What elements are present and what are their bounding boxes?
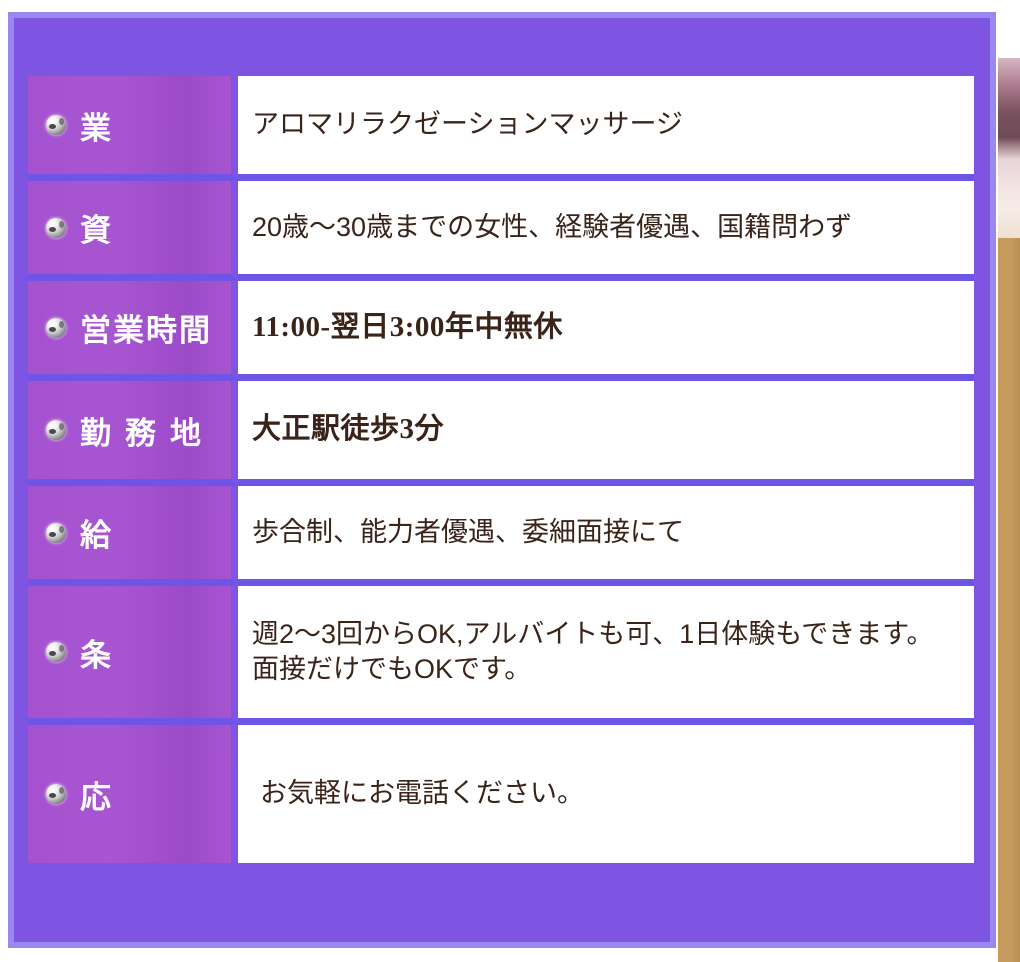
row-value-oubo: お気軽にお電話ください。 bbox=[238, 725, 974, 870]
table-row: 業 種 アロマリラクゼーションマッサージ bbox=[28, 76, 974, 181]
row-value-kinmuchi: 大正駅徒歩3分 bbox=[238, 381, 974, 486]
job-info-table-wrapper: 業 種 アロマリラクゼーションマッサージ 資 格 bbox=[28, 76, 974, 870]
outer-frame: 業 種 アロマリラクゼーションマッサージ 資 格 bbox=[8, 12, 996, 948]
gem-sphere-icon bbox=[46, 318, 66, 338]
row-label-kinmuchi: 勤務地 bbox=[28, 381, 238, 486]
gem-sphere-icon bbox=[46, 218, 66, 238]
row-value-kyuuyo: 歩合制、能力者優遇、委細面接にて bbox=[238, 486, 974, 586]
row-label-jouken: 条 件 bbox=[28, 586, 238, 725]
row-label-gyoushu: 業 種 bbox=[28, 76, 238, 181]
value-text: 週2〜3回からOK,アルバイトも可、1日体験もできます。 面接だけでもOKです。 bbox=[252, 617, 974, 687]
value-text: アロマリラクゼーションマッサージ bbox=[252, 107, 974, 142]
row-value-gyoushu: アロマリラクゼーションマッサージ bbox=[238, 76, 974, 181]
page-root: 業 種 アロマリラクゼーションマッサージ 資 格 bbox=[0, 0, 1020, 962]
side-photo-fragment bbox=[998, 58, 1020, 238]
gem-sphere-icon bbox=[46, 420, 66, 440]
row-label-kyuuyo: 給 与 bbox=[28, 486, 238, 586]
table-row: 勤務地 大正駅徒歩3分 bbox=[28, 381, 974, 486]
row-value-jouken: 週2〜3回からOK,アルバイトも可、1日体験もできます。 面接だけでもOKです。 bbox=[238, 586, 974, 725]
table-row: 給 与 歩合制、能力者優遇、委細面接にて bbox=[28, 486, 974, 586]
value-text: 大正駅徒歩3分 bbox=[252, 411, 974, 449]
gem-sphere-icon bbox=[46, 642, 66, 662]
side-gold-bar bbox=[998, 238, 1020, 962]
page-right-edge-decoration bbox=[998, 0, 1020, 962]
gem-sphere-icon bbox=[46, 523, 66, 543]
table-row: 営業時間 11:00-翌日3:00年中無休 bbox=[28, 281, 974, 381]
value-text: お気軽にお電話ください。 bbox=[252, 776, 974, 811]
table-row: 応 募 お気軽にお電話ください。 bbox=[28, 725, 974, 870]
table-row: 条 件 週2〜3回からOK,アルバイトも可、1日体験もできます。 面接だけでもO… bbox=[28, 586, 974, 725]
gem-sphere-icon bbox=[46, 115, 66, 135]
row-value-eigyojikan: 11:00-翌日3:00年中無休 bbox=[238, 281, 974, 381]
value-text: 20歳〜30歳までの女性、経験者優遇、国籍問わず bbox=[252, 210, 974, 245]
purple-panel: 業 種 アロマリラクゼーションマッサージ 資 格 bbox=[14, 18, 990, 942]
table-row: 資 格 20歳〜30歳までの女性、経験者優遇、国籍問わず bbox=[28, 181, 974, 281]
label-text: 営業時間 bbox=[80, 305, 212, 350]
gem-sphere-icon bbox=[46, 784, 66, 804]
label-text: 勤務地 bbox=[80, 408, 215, 453]
job-info-table: 業 種 アロマリラクゼーションマッサージ 資 格 bbox=[28, 76, 974, 870]
row-label-eigyojikan: 営業時間 bbox=[28, 281, 238, 381]
value-text: 11:00-翌日3:00年中無休 bbox=[252, 309, 974, 347]
row-label-shikaku: 資 格 bbox=[28, 181, 238, 281]
row-value-shikaku: 20歳〜30歳までの女性、経験者優遇、国籍問わず bbox=[238, 181, 974, 281]
value-text: 歩合制、能力者優遇、委細面接にて bbox=[252, 515, 974, 550]
row-label-oubo: 応 募 bbox=[28, 725, 238, 870]
